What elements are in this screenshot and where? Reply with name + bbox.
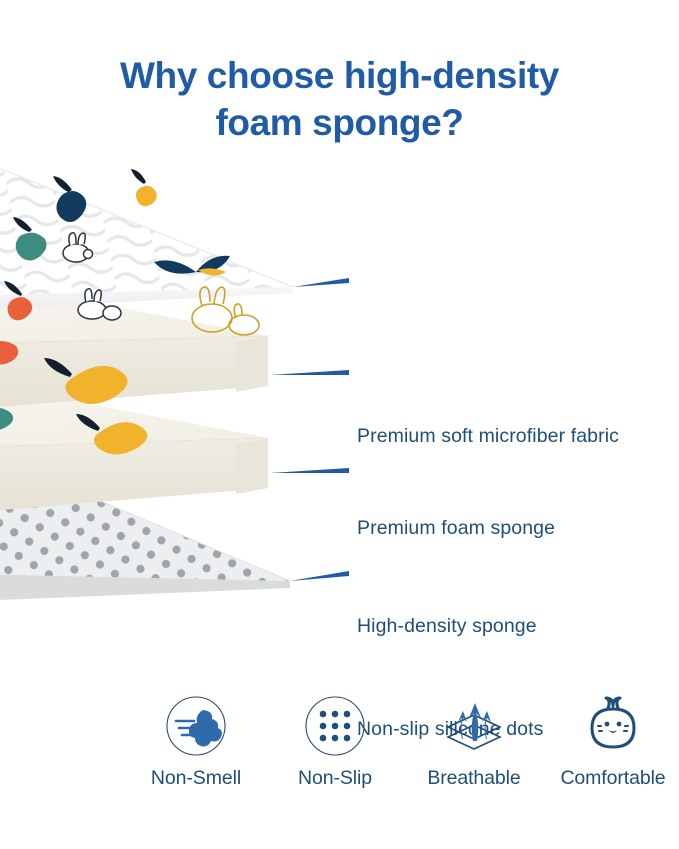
dot-grid-icon: [304, 695, 366, 757]
baby-face-icon: [582, 695, 644, 757]
feature-breathable: Breathable: [408, 695, 540, 790]
feature-label-comfortable: Comfortable: [560, 766, 665, 790]
feature-label-non-smell: Non-Smell: [151, 766, 241, 790]
leader-lines: [270, 278, 349, 581]
leader-line-high-density-sponge: [270, 468, 349, 473]
page-title: Why choose high-density foam sponge?: [0, 52, 679, 146]
leader-line-microfiber-fabric: [293, 278, 349, 287]
feature-non-slip: Non-Slip: [269, 695, 401, 790]
feature-label-non-slip: Non-Slip: [298, 766, 372, 790]
page-title-line-1: Why choose high-density: [0, 52, 679, 99]
callout-label-premium-foam-sponge: Premium foam sponge: [357, 517, 555, 539]
feature-non-smell: Non-Smell: [130, 695, 262, 790]
odor-free-icon: [165, 695, 227, 757]
leader-line-non-slip-silicone-dots: [290, 571, 349, 581]
feature-comfortable: Comfortable: [547, 695, 679, 790]
feature-badge-row: Non-Smell Non-Slip Breathable: [130, 695, 679, 805]
airflow-layers-icon: [443, 695, 505, 757]
callout-label-high-density-sponge: High-density sponge: [357, 615, 537, 637]
page-title-line-2: foam sponge?: [0, 99, 679, 146]
callout-label-microfiber-fabric: Premium soft microfiber fabric: [357, 425, 619, 447]
feature-label-breathable: Breathable: [427, 766, 520, 790]
leader-line-premium-foam-sponge: [270, 370, 349, 375]
mattress-layer-diagram: Premium soft microfiber fabric Premium f…: [0, 150, 679, 695]
